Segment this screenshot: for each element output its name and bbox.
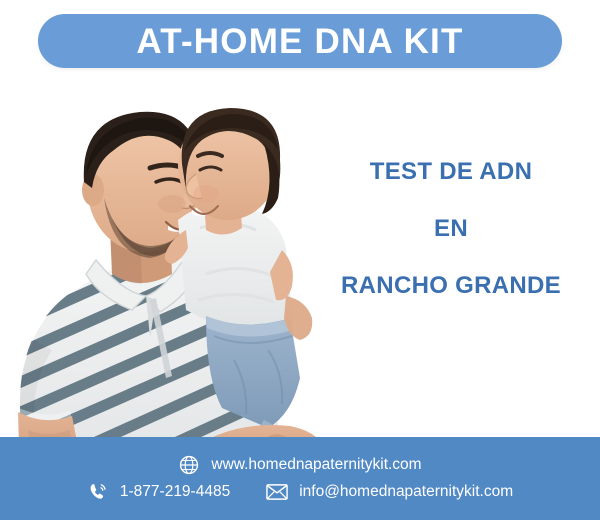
headline-block: TEST DE ADN EN RANCHO GRANDE	[320, 160, 582, 298]
globe-icon	[178, 454, 200, 476]
phone-icon	[87, 481, 109, 503]
footer-contact-rows: www.homednapaternitykit.com 1-877-219-44…	[0, 437, 600, 520]
header-banner: AT-HOME DNA KIT	[38, 14, 562, 68]
footer-row-contact: 1-877-219-4485 info@homednapaternitykit.…	[0, 481, 600, 503]
footer-phone-item[interactable]: 1-877-219-4485	[87, 481, 230, 503]
email-text: info@homednapaternitykit.com	[299, 484, 513, 500]
poster-canvas: AT-HOME DNA KIT	[0, 0, 600, 520]
page-title: AT-HOME DNA KIT	[136, 24, 463, 59]
hero-photo	[0, 78, 330, 478]
website-text: www.homednapaternitykit.com	[211, 457, 421, 473]
headline-line-1: TEST DE ADN	[320, 160, 582, 184]
phone-text: 1-877-219-4485	[120, 484, 230, 500]
footer-website-item[interactable]: www.homednapaternitykit.com	[178, 454, 421, 476]
headline-line-3: RANCHO GRANDE	[320, 274, 582, 298]
father-and-child-photo	[0, 78, 330, 478]
footer-row-website: www.homednapaternitykit.com	[0, 454, 600, 476]
envelope-icon	[266, 481, 288, 503]
footer-email-item[interactable]: info@homednapaternitykit.com	[266, 481, 513, 503]
headline-line-2: EN	[320, 217, 582, 241]
